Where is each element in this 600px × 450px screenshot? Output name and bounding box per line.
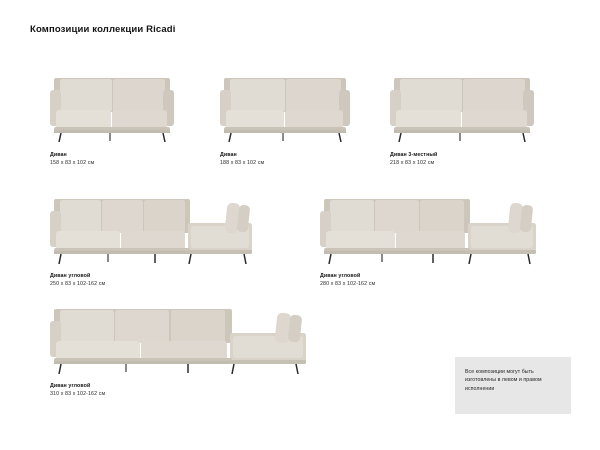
product-caption-corner-sofa-280: Диван угловой 280 x 83 x 102-162 см xyxy=(320,273,375,287)
product-name: Диван 3-местный xyxy=(390,152,437,158)
catalog-page: Композиции коллекции Ricadi xyxy=(0,0,600,450)
product-image-corner-sofa-310 xyxy=(48,303,310,375)
product-caption-sofa-158: Диван 158 x 83 x 102 см xyxy=(50,152,94,166)
product-image-sofa-158 xyxy=(48,72,176,144)
product-dimensions: 218 x 83 x 102 см xyxy=(390,160,437,166)
product-name: Диван xyxy=(50,152,94,158)
product-image-corner-sofa-250 xyxy=(48,193,256,265)
product-name: Диван угловой xyxy=(320,273,375,279)
production-note-box: Все композиции могут быть изготовлены в … xyxy=(455,357,571,414)
product-caption-corner-sofa-310: Диван угловой 310 x 83 x 102-162 см xyxy=(50,383,105,397)
product-image-sofa-188 xyxy=(218,72,352,144)
product-name: Диван угловой xyxy=(50,383,105,389)
product-caption-corner-sofa-250: Диван угловой 250 x 83 x 102-162 см xyxy=(50,273,105,287)
page-title: Композиции коллекции Ricadi xyxy=(30,24,176,35)
product-image-corner-sofa-280 xyxy=(318,193,540,265)
product-caption-sofa-3seat-218: Диван 3-местный 218 x 83 x 102 см xyxy=(390,152,437,166)
product-name: Диван xyxy=(220,152,264,158)
product-dimensions: 250 x 83 x 102-162 см xyxy=(50,281,105,287)
product-card-sofa-188[interactable]: Диван 188 x 83 x 102 см xyxy=(218,72,352,144)
product-card-corner-sofa-280[interactable]: Диван угловой 280 x 83 x 102-162 см xyxy=(318,193,540,265)
product-image-sofa-3seat-218 xyxy=(388,72,536,144)
product-dimensions: 310 x 83 x 102-162 см xyxy=(50,391,105,397)
product-dimensions: 280 x 83 x 102-162 см xyxy=(320,281,375,287)
product-card-sofa-3seat-218[interactable]: Диван 3-местный 218 x 83 x 102 см xyxy=(388,72,536,144)
product-dimensions: 158 x 83 x 102 см xyxy=(50,160,94,166)
product-card-sofa-158[interactable]: Диван 158 x 83 x 102 см xyxy=(48,72,176,144)
product-card-corner-sofa-310[interactable]: Диван угловой 310 x 83 x 102-162 см xyxy=(48,303,310,375)
product-name: Диван угловой xyxy=(50,273,105,279)
product-caption-sofa-188: Диван 188 x 83 x 102 см xyxy=(220,152,264,166)
product-card-corner-sofa-250[interactable]: Диван угловой 250 x 83 x 102-162 см xyxy=(48,193,256,265)
production-note-text: Все композиции могут быть изготовлены в … xyxy=(465,368,562,393)
product-dimensions: 188 x 83 x 102 см xyxy=(220,160,264,166)
